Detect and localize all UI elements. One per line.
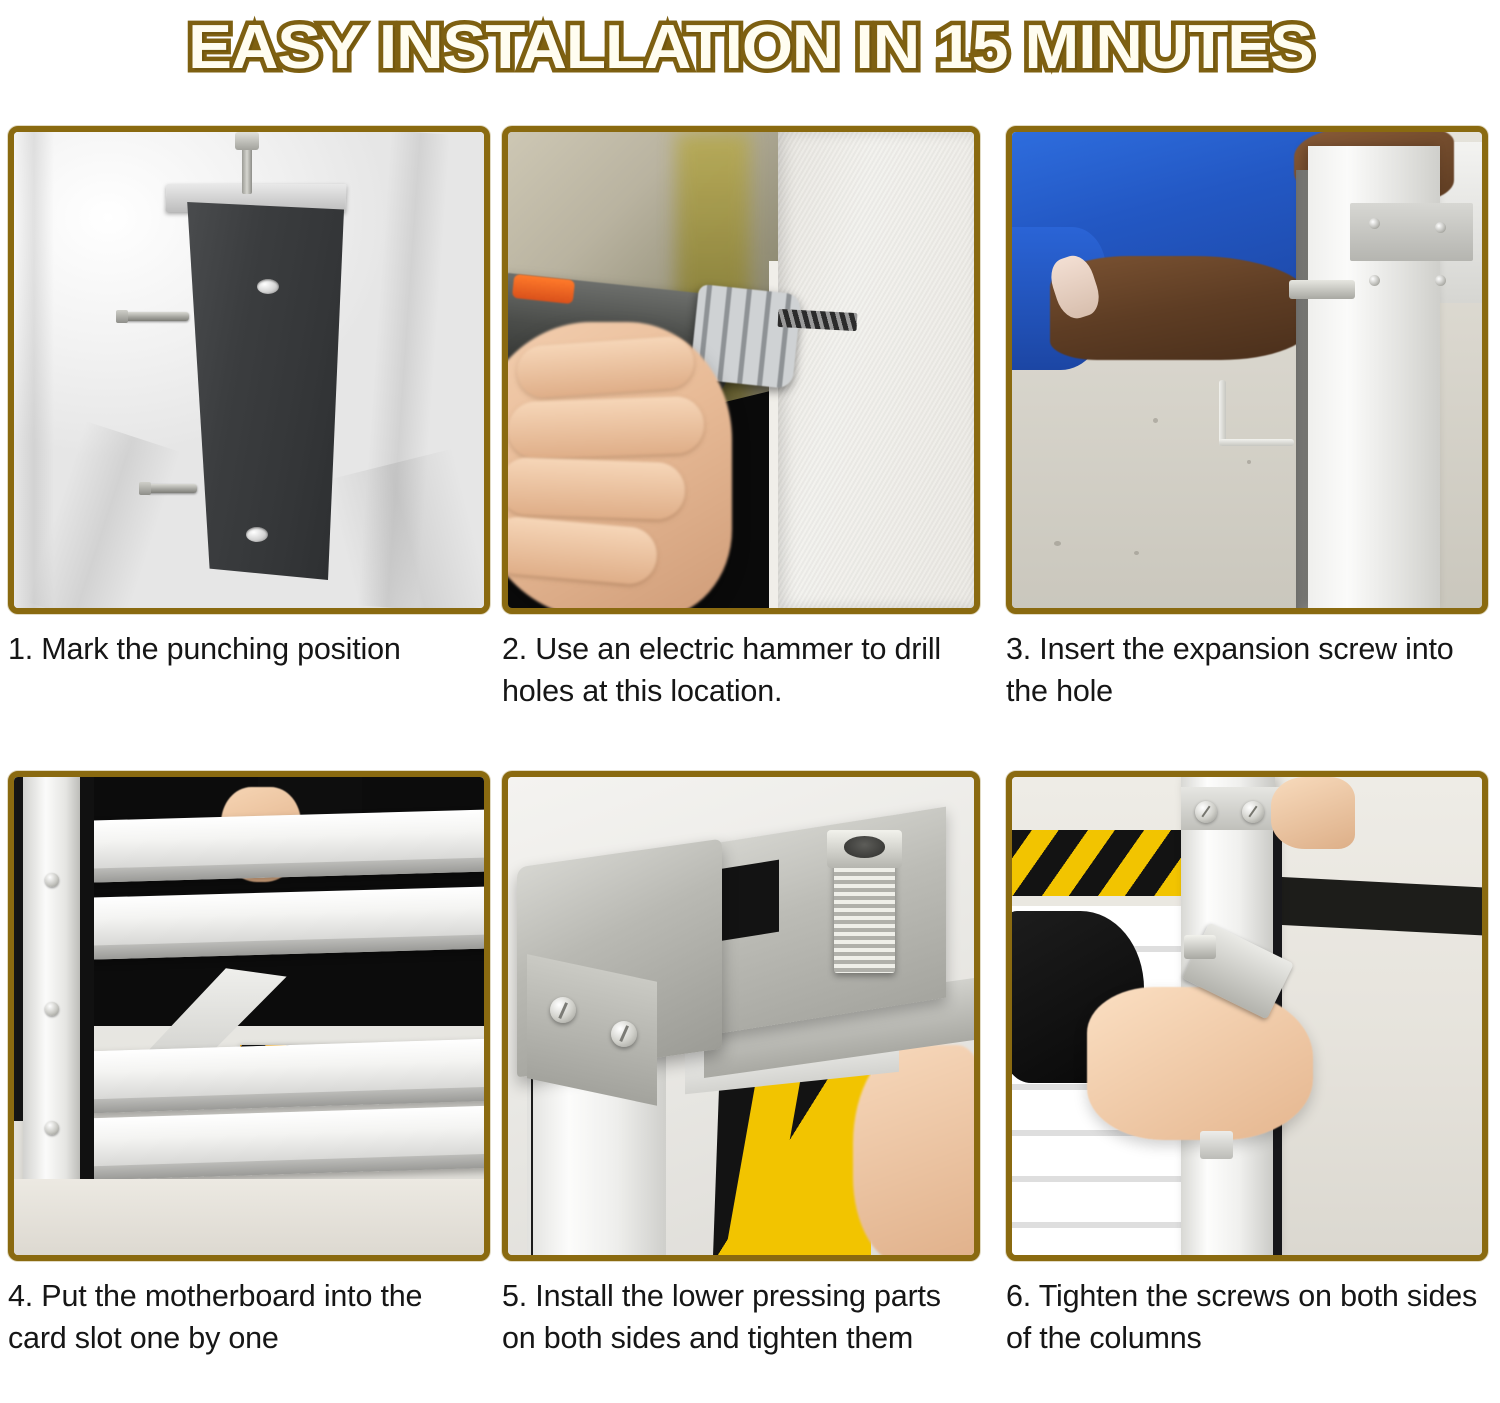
marking-template-photo [14, 132, 484, 608]
step-caption-3: 3. Insert the expansion screw into the h… [1006, 628, 1481, 712]
step-image-frame-4 [8, 771, 490, 1261]
step-image-frame-1 [8, 126, 490, 614]
step-caption-2: 2. Use an electric hammer to drill holes… [502, 628, 972, 712]
page-title: EASY INSTALLATION IN 15 MINUTES [188, 17, 1313, 79]
step-image-frame-5 [502, 771, 980, 1261]
step-card-4: 4. Put the motherboard into the card slo… [8, 771, 498, 1401]
step-caption-4: 4. Put the motherboard into the card slo… [8, 1275, 483, 1359]
expansion-screw-photo [1012, 132, 1482, 608]
step-card-1: 1. Mark the punching position [8, 126, 498, 771]
step-caption-6: 6. Tighten the screws on both sides of t… [1006, 1275, 1481, 1359]
step-image-frame-2 [502, 126, 980, 614]
tighten-screws-photo [1012, 777, 1482, 1255]
step-image-frame-3 [1006, 126, 1488, 614]
header-banner: EASY INSTALLATION IN 15 MINUTES [0, 0, 1500, 92]
step-card-6: 6. Tighten the screws on both sides of t… [1006, 771, 1496, 1401]
step-card-2: 2. Use an electric hammer to drill holes… [502, 126, 1002, 771]
motherboard-card-slot-photo [14, 777, 484, 1255]
lower-pressing-parts-photo [508, 777, 974, 1255]
step-card-3: 3. Insert the expansion screw into the h… [1006, 126, 1496, 771]
step-caption-1: 1. Mark the punching position [8, 628, 483, 670]
step-image-frame-6 [1006, 771, 1488, 1261]
drilling-wall-photo [508, 132, 974, 608]
steps-grid: 1. Mark the punching position 2. Use [8, 126, 1492, 1401]
step-card-5: 5. Install the lower pressing parts on b… [502, 771, 1002, 1401]
step-caption-5: 5. Install the lower pressing parts on b… [502, 1275, 972, 1359]
